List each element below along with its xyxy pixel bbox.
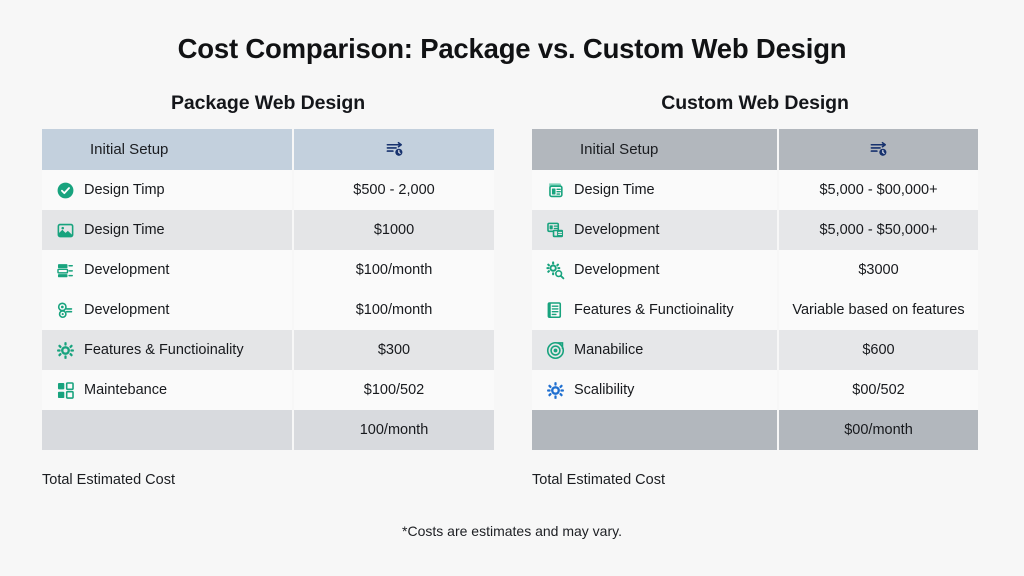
gears-config-icon — [56, 301, 75, 320]
header-icon-cell — [294, 129, 494, 170]
row-label: Manabilice — [574, 342, 643, 358]
table-custom: Initial Setup — [532, 129, 978, 450]
table-row: Development $100/month — [42, 290, 494, 330]
sort-settings-icon — [385, 140, 404, 159]
header-label: Initial Setup — [580, 141, 658, 158]
table-row: Features & Functioinality Variable based… — [532, 290, 978, 330]
slide-root: Cost Comparison: Package vs. Custom Web … — [0, 0, 1024, 576]
gear-icon — [56, 341, 75, 360]
table-row: Development $100/month — [42, 250, 494, 290]
row-label: Development — [84, 262, 169, 278]
page-title: Cost Comparison: Package vs. Custom Web … — [0, 33, 1024, 65]
row-value: $500 - 2,000 — [294, 170, 494, 210]
total-row-label — [42, 410, 292, 450]
total-row-label — [532, 410, 777, 450]
row-value: $100/502 — [294, 370, 494, 410]
table-row: Maintebance $100/502 — [42, 370, 494, 410]
table-row: Development $3000 — [532, 250, 978, 290]
table-row: Development $5,000 - $50,000+ — [532, 210, 978, 250]
panel-custom: Custom Web Design Initial Setup — [532, 92, 978, 488]
table-row: Design Time $5,000 - $00,000+ — [532, 170, 978, 210]
row-label: Features & Functioinality — [574, 302, 734, 318]
row-label: Features & Functioinality — [84, 342, 244, 358]
check-circle-icon — [56, 181, 75, 200]
document-lines-icon — [546, 301, 565, 320]
layers-window-icon — [546, 221, 565, 240]
row-label: Development — [574, 262, 659, 278]
row-label: Development — [574, 222, 659, 238]
table-row: Design Time $1000 — [42, 210, 494, 250]
table-package: Initial Setup — [42, 129, 494, 450]
gear-blue-icon — [546, 381, 565, 400]
row-value: $5,000 - $50,000+ — [779, 210, 978, 250]
row-label: Design Timp — [84, 182, 165, 198]
row-value: $5,000 - $00,000+ — [779, 170, 978, 210]
table-row: Features & Functioinality $300 — [42, 330, 494, 370]
row-value: $600 — [779, 330, 978, 370]
total-estimated-cost-label: Total Estimated Cost — [42, 472, 494, 488]
row-label: Maintebance — [84, 382, 167, 398]
grid-blocks-icon — [56, 381, 75, 400]
row-value: $100/month — [294, 290, 494, 330]
row-value: $300 — [294, 330, 494, 370]
panel-title-custom: Custom Web Design — [532, 92, 978, 115]
header-label: Initial Setup — [90, 141, 168, 158]
table-header-row: Initial Setup — [532, 129, 978, 170]
total-estimated-cost-label: Total Estimated Cost — [532, 472, 978, 488]
gear-search-icon — [546, 261, 565, 280]
sort-settings-icon — [869, 140, 888, 159]
header-label-cell: Initial Setup — [42, 129, 292, 170]
image-icon — [56, 221, 75, 240]
total-row-value: $00/month — [779, 410, 978, 450]
footnote: *Costs are estimates and may vary. — [0, 523, 1024, 539]
total-row-value: 100/month — [294, 410, 494, 450]
browser-window-icon — [546, 181, 565, 200]
row-label: Design Time — [84, 222, 165, 238]
row-label: Scalibility — [574, 382, 634, 398]
panel-package: Package Web Design Initial Setup — [42, 92, 494, 488]
table-row: Design Timp $500 - 2,000 — [42, 170, 494, 210]
row-value: $00/502 — [779, 370, 978, 410]
row-label: Design Time — [574, 182, 655, 198]
table-total-row: 100/month — [42, 410, 494, 450]
row-label: Development — [84, 302, 169, 318]
table-row: Manabilice $600 — [532, 330, 978, 370]
server-list-icon — [56, 261, 75, 280]
row-value: $1000 — [294, 210, 494, 250]
panel-title-package: Package Web Design — [42, 92, 494, 115]
header-icon-cell — [779, 129, 978, 170]
table-header-row: Initial Setup — [42, 129, 494, 170]
header-label-cell: Initial Setup — [532, 129, 777, 170]
row-value: $100/month — [294, 250, 494, 290]
table-total-row: $00/month — [532, 410, 978, 450]
table-row: Scalibility $00/502 — [532, 370, 978, 410]
target-eye-icon — [546, 341, 565, 360]
row-value: $3000 — [779, 250, 978, 290]
row-value: Variable based on features — [779, 290, 978, 330]
